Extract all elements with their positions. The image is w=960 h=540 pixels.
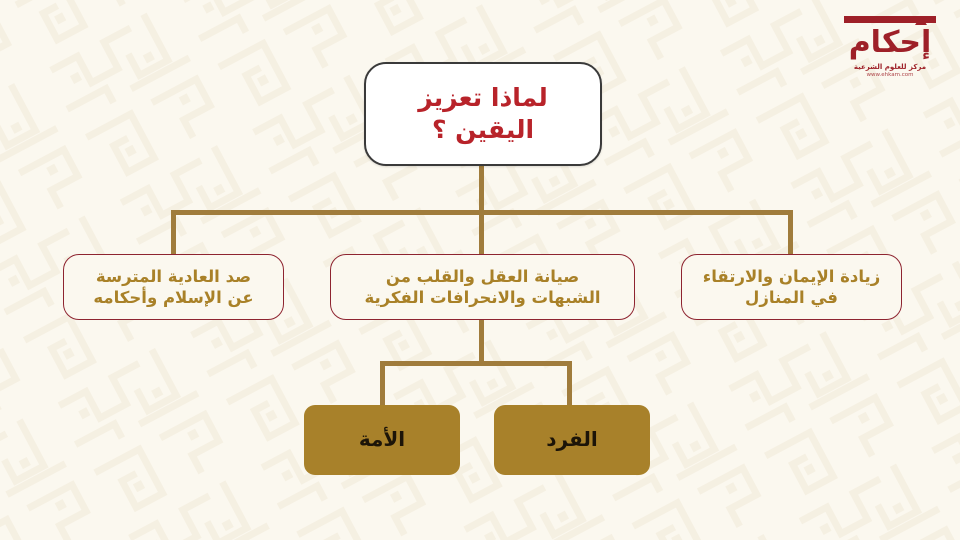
connector-drop-individual bbox=[567, 361, 572, 407]
connector-level1-bus bbox=[171, 210, 791, 215]
node-leaf-individual-text: الفرد bbox=[538, 427, 605, 453]
node-leaf-individual[interactable]: الفرد bbox=[494, 405, 650, 475]
node-branch-center[interactable]: صيانة العقل والقلب من الشبهات والانحرافا… bbox=[330, 254, 635, 320]
logo-wordmark: إحكام bbox=[840, 24, 940, 62]
node-leaf-ummah[interactable]: الأمة bbox=[304, 405, 460, 475]
node-branch-right[interactable]: زيادة الإيمان والارتقاء في المنازل bbox=[681, 254, 902, 320]
connector-center-stem bbox=[479, 318, 484, 364]
node-root-title-text: لماذا تعزيز اليقين ؟ bbox=[410, 82, 556, 146]
connector-level2-bus bbox=[380, 361, 572, 366]
dome-icon bbox=[915, 16, 927, 25]
slide-canvas: إحكام مركز للعلوم الشرعية www.ehkam.com … bbox=[0, 0, 960, 540]
node-root-title[interactable]: لماذا تعزيز اليقين ؟ bbox=[364, 62, 602, 166]
node-branch-center-text: صيانة العقل والقلب من الشبهات والانحرافا… bbox=[356, 266, 608, 308]
connector-drop-right bbox=[788, 210, 793, 255]
connector-drop-center bbox=[479, 210, 484, 255]
node-branch-left-text: صد العادية المترسة عن الإسلام وأحكامه bbox=[85, 266, 261, 308]
logo-name: إحكام bbox=[849, 25, 932, 60]
node-branch-left[interactable]: صد العادية المترسة عن الإسلام وأحكامه bbox=[63, 254, 284, 320]
node-branch-right-text: زيادة الإيمان والارتقاء في المنازل bbox=[695, 266, 888, 308]
connector-drop-left bbox=[171, 210, 176, 255]
logo-subtitle: مركز للعلوم الشرعية bbox=[836, 63, 944, 71]
connector-drop-ummah bbox=[380, 361, 385, 407]
logo-subtitle-small: www.ehkam.com bbox=[836, 72, 944, 78]
brand-logo: إحكام مركز للعلوم الشرعية www.ehkam.com bbox=[836, 12, 944, 92]
node-leaf-ummah-text: الأمة bbox=[351, 427, 413, 453]
connector-title-stem bbox=[479, 166, 484, 214]
